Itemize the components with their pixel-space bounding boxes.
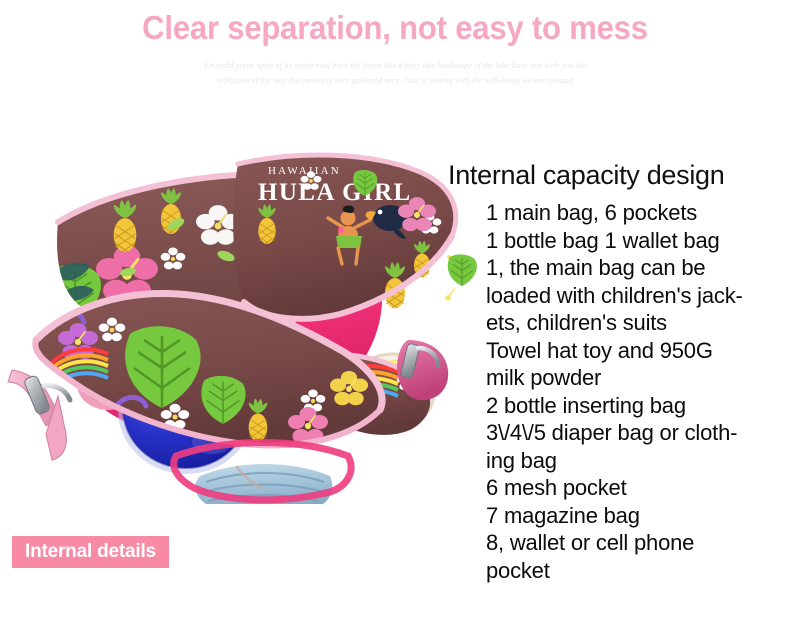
feature-line: 3\/4\/5 diaper bag or cloth- [486, 419, 790, 447]
brand-text-hawaiian: HAWAIIAN [268, 165, 341, 177]
feature-line: ets, children's suits [486, 309, 790, 337]
brand-text-hula-girl: HULA GIRL [258, 179, 412, 206]
capacity-copy-block: Internal capacity design 1 main bag, 6 p… [448, 158, 790, 584]
capacity-feature-list: 1 main bag, 6 pockets 1 bottle bag 1 wal… [486, 199, 790, 584]
capacity-heading: Internal capacity design [448, 158, 790, 192]
feature-line: pocket [486, 557, 790, 585]
shoulder-strap [8, 370, 70, 460]
feature-line: 8, wallet or cell phone [486, 529, 790, 557]
feature-line: 2 bottle inserting bag [486, 392, 790, 420]
brand-panel: HAWAIIAN HULA GIRL [233, 155, 477, 319]
page-title: Clear separation, not easy to mess [24, 9, 767, 47]
feature-line: loaded with children's jack- [486, 282, 790, 310]
feature-line: 1 main bag, 6 pockets [486, 199, 790, 227]
internal-details-badge: Internal details [12, 536, 169, 568]
feature-line: 1, the main bag can be [486, 254, 790, 282]
feature-line: 7 magazine bag [486, 502, 790, 530]
product-marketing-image: Clear separation, not easy to mess Emera… [0, 0, 790, 636]
feature-line: milk powder [486, 364, 790, 392]
product-photo: HAWAIIAN HULA GIRL [0, 104, 480, 504]
feature-line: ing bag [486, 447, 790, 475]
feature-line: 1 bottle bag 1 wallet bag [486, 227, 790, 255]
decorative-subcaption: Emerald green spire of an entire roof ev… [0, 58, 790, 88]
feature-line: 6 mesh pocket [486, 474, 790, 502]
feature-line: Towel hat toy and 950G [486, 337, 790, 365]
